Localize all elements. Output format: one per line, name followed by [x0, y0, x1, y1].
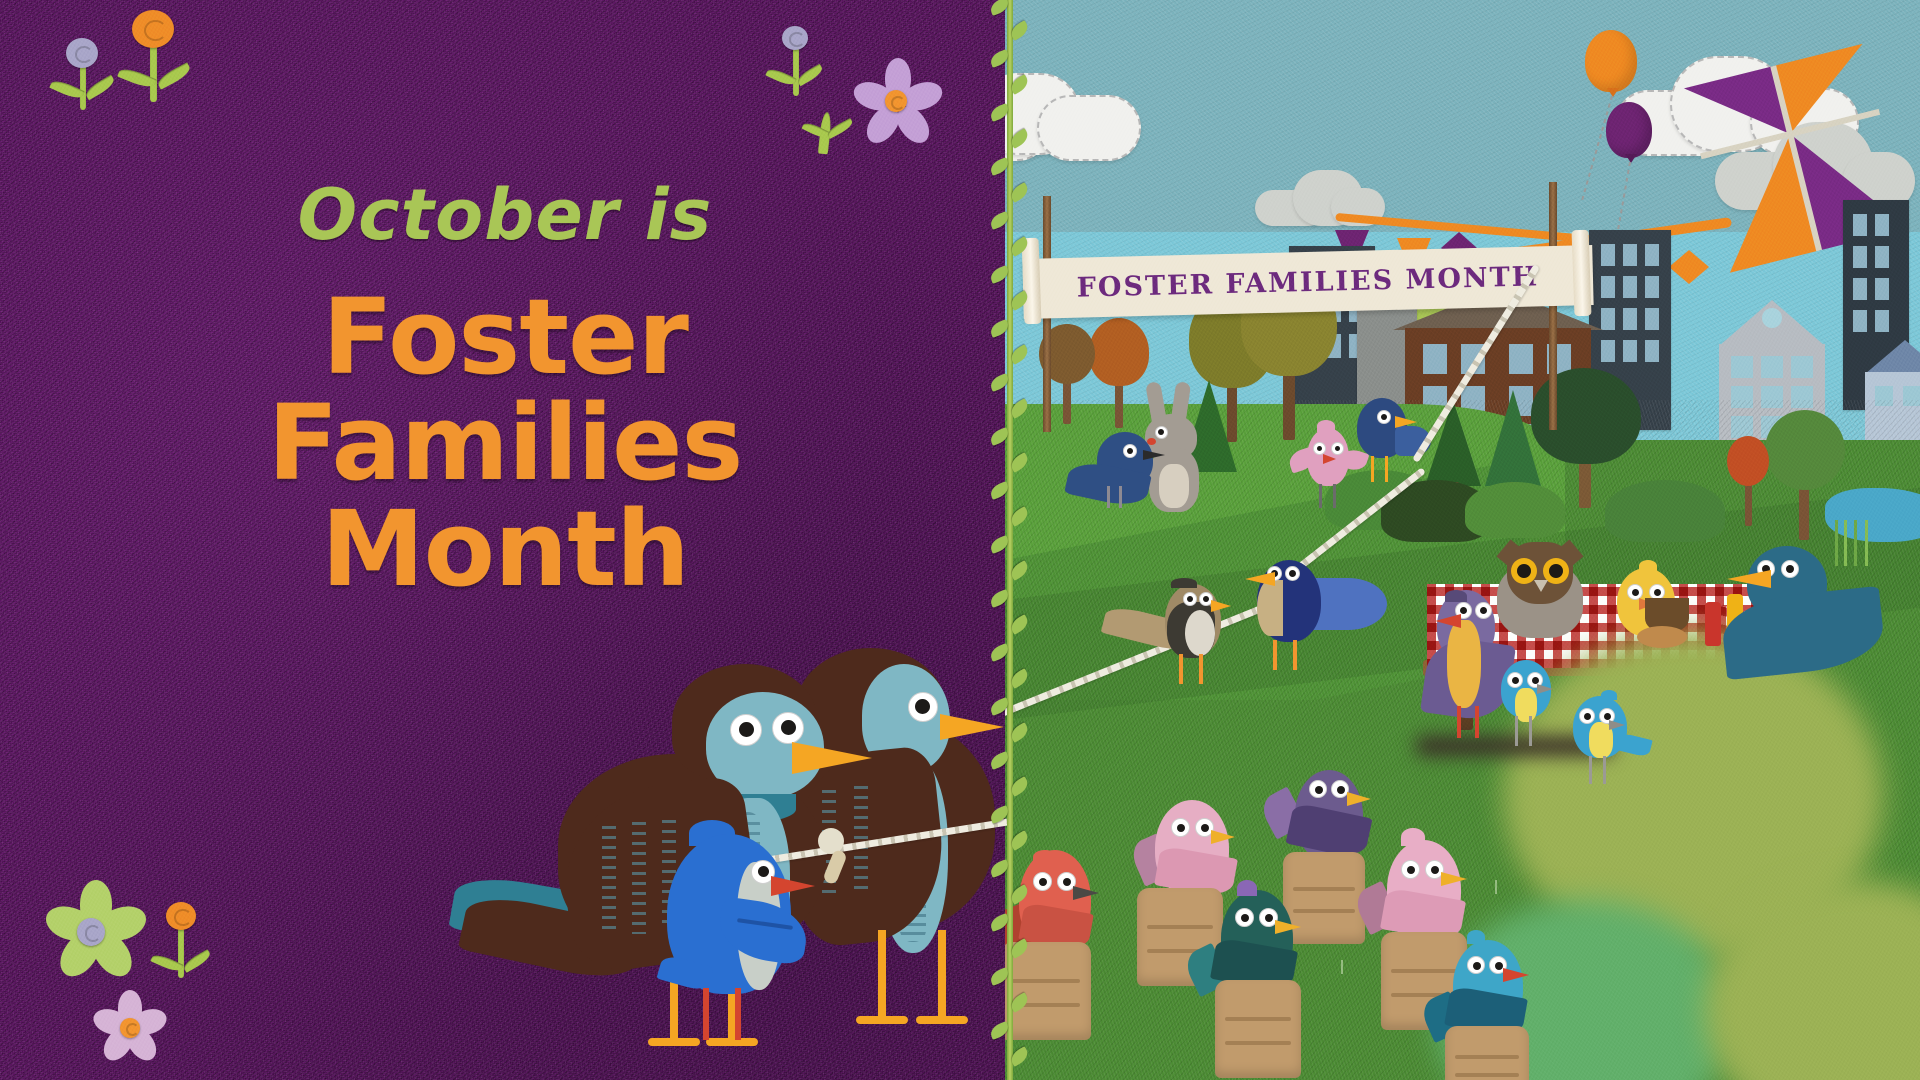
- shrub-green-2: [1465, 482, 1565, 538]
- tree-green-right: [1765, 410, 1845, 540]
- chick-blue-standing: [1567, 690, 1647, 788]
- title-line-3: Month: [0, 496, 1010, 602]
- bird-beak: [940, 714, 1004, 740]
- sack-racer-teal: [1193, 890, 1333, 1080]
- banner-roll-right: [1572, 230, 1592, 317]
- flower-lavender-bud-top-right: [768, 22, 838, 112]
- chick-leg-left: [703, 988, 709, 1040]
- pine-tree-2: [1425, 400, 1481, 486]
- grass-tuft: [1341, 960, 1343, 974]
- race-sack: [1215, 980, 1301, 1078]
- wing-stitch-b: [632, 822, 646, 934]
- bread-roll: [1637, 626, 1687, 648]
- eyebrow-text: October is: [0, 180, 1010, 250]
- race-sack: [1445, 1026, 1529, 1080]
- chick-blue-on-bench: [1495, 660, 1561, 752]
- headline-block: October is Foster Families Month: [0, 180, 1010, 602]
- bird-eye-right: [772, 712, 804, 744]
- balloon-purple: [1606, 102, 1654, 222]
- felt-vine-seam: [996, 0, 1022, 1080]
- sack-racer-blue: [1425, 940, 1565, 1080]
- poster-canvas: October is Foster Families Month: [0, 0, 1920, 1080]
- park-scene-panel: FOSTER FAMILIES MONTH: [1005, 0, 1920, 1080]
- flower-orange-bud-bottom-left: [152, 896, 222, 996]
- bird-eye-left: [730, 714, 762, 746]
- grass-sprig-top-right: [800, 112, 860, 162]
- flower-green-5petal-bottom-left: [44, 880, 142, 980]
- bird-blue-fantail: [1235, 556, 1395, 680]
- bird-teal-large: [1723, 546, 1903, 696]
- title-text: Foster Families Month: [0, 284, 1010, 602]
- ketchup-bottle: [1705, 602, 1721, 646]
- wing-stitch-a: [602, 826, 616, 936]
- banner-roll-left: [1022, 238, 1042, 325]
- chick-leg-right: [735, 988, 741, 1040]
- bird-beak: [792, 742, 872, 774]
- title-line-1: Foster: [0, 284, 1010, 390]
- child-bird-blue: [655, 820, 845, 1050]
- bird-brown-striped: [1111, 578, 1251, 698]
- tree-autumn-right: [1727, 436, 1769, 526]
- flower-violet-5petal-top-right: [856, 58, 940, 144]
- bird-navy-blue-standing: [1067, 426, 1175, 518]
- chick-beak: [771, 876, 815, 896]
- title-line-2: Families: [0, 390, 1010, 496]
- kite-tail-bow-1: [1669, 250, 1709, 284]
- chick-pink: [1293, 420, 1365, 516]
- shrub-green-3: [1605, 480, 1725, 542]
- left-felt-panel: October is Foster Families Month: [0, 0, 1010, 1080]
- flower-pink-5petal-bottom-left: [96, 990, 166, 1062]
- flower-orange-bloom-top-left: [118, 6, 206, 116]
